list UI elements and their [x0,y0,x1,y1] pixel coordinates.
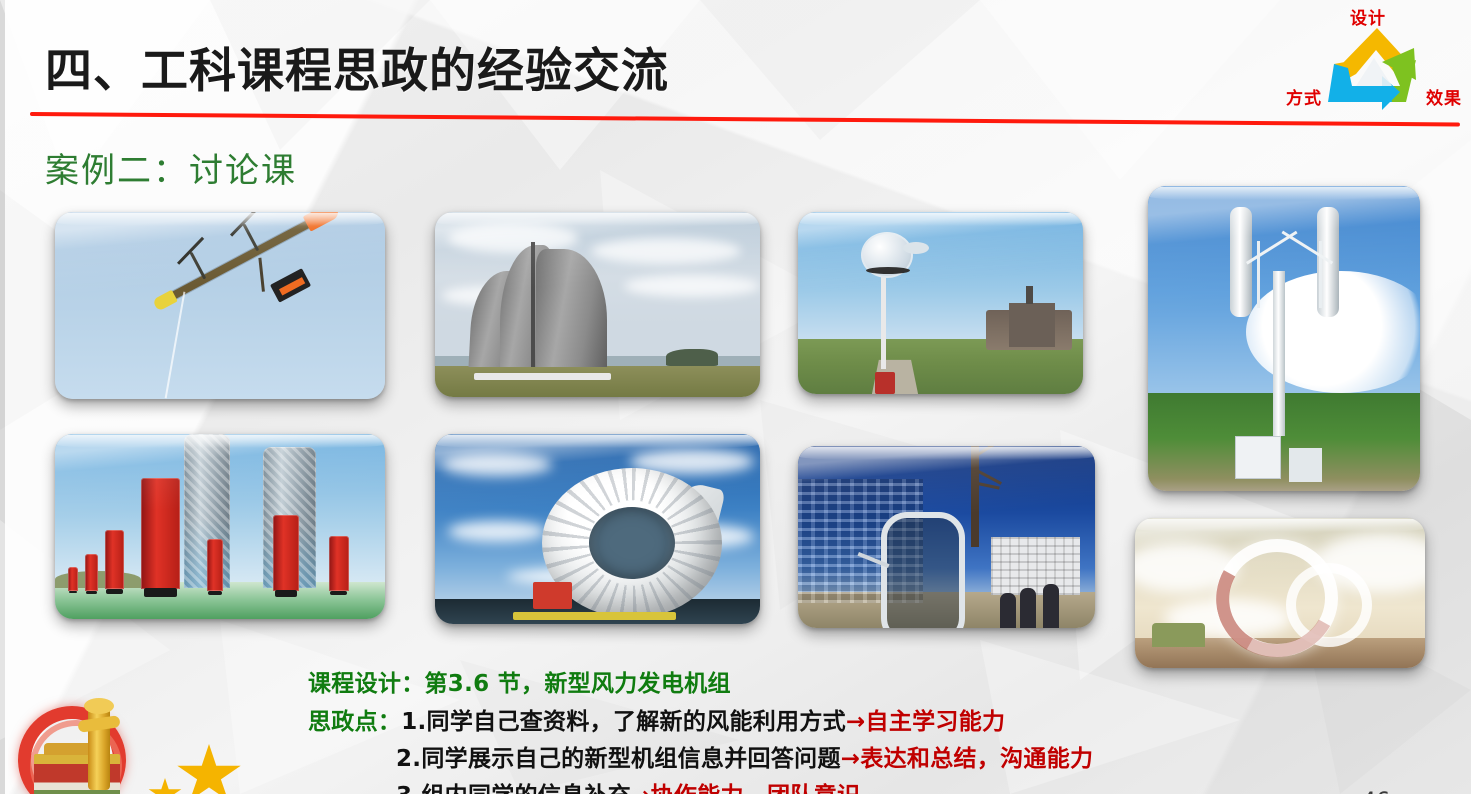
page-title: 四、工科课程思政的经验交流 [45,32,669,101]
logo-label-effect: 效果 [1426,84,1462,109]
point-2-text: 同学展示自己的新型机组信息并回答问题 [421,746,840,772]
left-edge-strip [0,0,5,794]
gallery-photo-2[interactable] [435,212,760,397]
title-underline-rule [30,112,1460,126]
logo-label-method: 方式 [1286,84,1322,109]
logo-label-design: 设计 [1350,4,1386,29]
gallery-photo-6[interactable] [435,434,760,624]
tiananmen-emblem-decoration [8,690,258,794]
gold-star-large-icon [176,744,242,794]
ideology-point-2: 2.同学展示自己的新型机组信息并回答问题→表达和总结，沟通能力 [308,739,1408,773]
point-1-text: 同学自己查资料，了解新的风能利用方式 [427,709,846,735]
point-2-num: 2. [396,746,421,772]
point-3-outcome: 协作能力，团队意识 [651,783,861,794]
course-design-label: 课程设计： [308,671,425,697]
page-number: 46 [1362,789,1390,794]
gallery-photo-4[interactable] [1148,186,1420,491]
gallery-photo-5[interactable] [55,434,385,619]
point-1-arrow: → [846,709,866,735]
course-design-value: 第3.6 节，新型风力发电机组 [425,671,731,697]
point-1-num: 1. [401,709,426,735]
gold-star-small-icon [148,778,182,794]
point-3-text: 组内同学的信息补充 [421,783,631,794]
gallery-photo-8[interactable] [1135,518,1425,668]
ideology-point-1: 思政点：1.同学自己查资料，了解新的风能利用方式→自主学习能力 [308,702,1408,736]
point-2-arrow: → [841,746,861,772]
ideology-label: 思政点： [308,709,401,735]
point-1-outcome: 自主学习能力 [866,709,1006,735]
slide-subtitle: 案例二：讨论课 [45,143,297,192]
design-method-effect-logo: 设计 方式 效果 [1282,2,1467,120]
gallery-photo-7[interactable] [798,446,1095,628]
point-2-outcome: 表达和总结，沟通能力 [860,746,1093,772]
point-3-arrow: → [631,783,651,794]
ideology-point-3: 3.组内同学的信息补充→协作能力，团队意识 [308,776,1408,794]
slide-canvas: 四、工科课程思政的经验交流 案例二：讨论课 设计 方式 效果 [0,0,1471,794]
notes-block: 课程设计：第3.6 节，新型风力发电机组 思政点：1.同学自己查资料，了解新的风… [308,664,1408,794]
course-design-line: 课程设计：第3.6 节，新型风力发电机组 [308,664,1408,698]
gallery-photo-1[interactable] [55,212,385,399]
huabiao-column-icon [88,708,110,790]
gallery-photo-3[interactable] [798,212,1083,394]
point-3-num: 3. [396,783,421,794]
